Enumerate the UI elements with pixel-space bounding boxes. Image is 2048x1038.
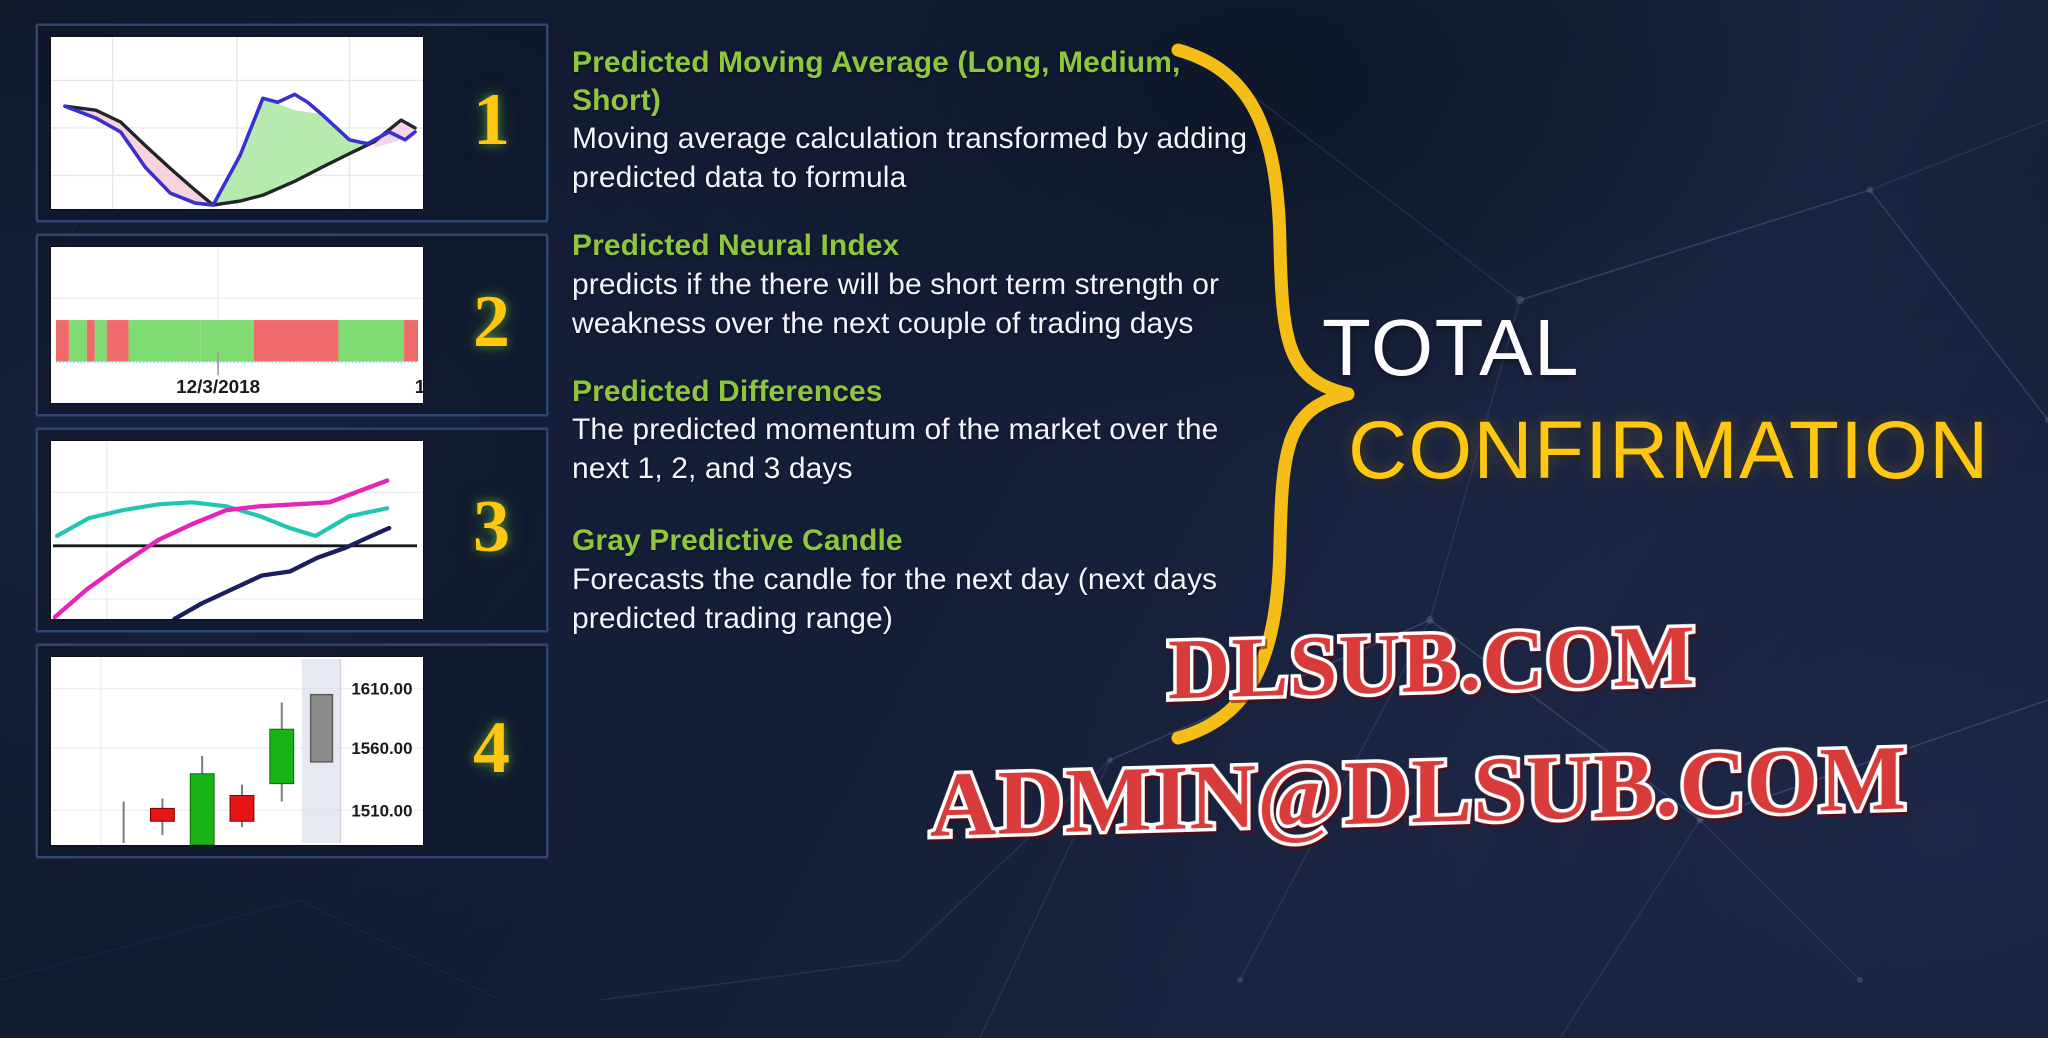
callout-line-2: CONFIRMATION (1348, 410, 1990, 492)
chart-panel-4[interactable]: 1610.00 1560.00 1510.00 4 (36, 644, 548, 858)
feature-body-1: Moving average calculation transformed b… (572, 119, 1262, 197)
panel-number-1: 1 (436, 86, 546, 160)
panel-number-3: 3 (436, 493, 546, 567)
predicted-neural-index-chart: 12/3/2018 1 (50, 246, 424, 404)
chart-panel-list: 1 (36, 24, 548, 870)
feature-heading-2: Predicted Neural Index (572, 227, 1262, 265)
callout-line-1: TOTAL (1322, 308, 1990, 388)
feature-body-2: predicts if the there will be short term… (572, 265, 1262, 343)
predicted-moving-average-chart (50, 36, 424, 210)
svg-text:12/3/2018: 12/3/2018 (176, 376, 260, 397)
feature-body-3: The predicted momentum of the market ove… (572, 410, 1262, 488)
feature-block-4: Gray Predictive Candle Forecasts the can… (572, 522, 1262, 638)
chart-panel-1[interactable]: 1 (36, 24, 548, 222)
panel-number-2: 2 (436, 288, 546, 362)
svg-text:1560.00: 1560.00 (351, 739, 412, 758)
panel-number-4: 4 (436, 714, 546, 788)
total-confirmation-callout: TOTAL CONFIRMATION (1322, 308, 1990, 492)
gray-predictive-candle-chart: 1610.00 1560.00 1510.00 (50, 656, 424, 846)
feature-body-4: Forecasts the candle for the next day (n… (572, 560, 1262, 638)
svg-text:1510.00: 1510.00 (351, 801, 412, 820)
feature-heading-1: Predicted Moving Average (Long, Medium, … (572, 44, 1262, 119)
feature-block-2: Predicted Neural Index predicts if the t… (572, 227, 1262, 343)
feature-heading-3: Predicted Differences (572, 373, 1262, 411)
predicted-differences-chart (50, 440, 424, 620)
feature-text-column: Predicted Moving Average (Long, Medium, … (572, 44, 1262, 664)
chart-panel-2[interactable]: 12/3/2018 1 2 (36, 234, 548, 416)
svg-text:1: 1 (415, 376, 423, 397)
feature-heading-4: Gray Predictive Candle (572, 522, 1262, 560)
svg-text:1610.00: 1610.00 (351, 680, 412, 699)
feature-block-1: Predicted Moving Average (Long, Medium, … (572, 44, 1262, 197)
feature-block-3: Predicted Differences The predicted mome… (572, 373, 1262, 489)
chart-panel-3[interactable]: 3 (36, 428, 548, 632)
